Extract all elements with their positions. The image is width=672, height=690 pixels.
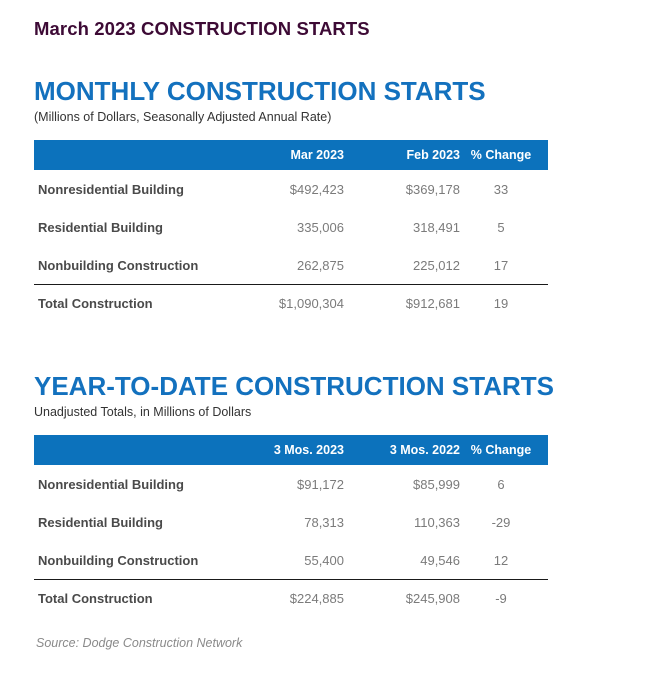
table-header-row: Mar 2023 Feb 2023 % Change <box>34 140 548 170</box>
cell-change: 33 <box>464 170 548 208</box>
table-row: Residential Building 78,313 110,363 -29 <box>34 503 548 541</box>
cell-current: 262,875 <box>236 246 348 285</box>
report-title: March 2023 CONSTRUCTION STARTS <box>34 18 370 40</box>
cell-previous: 49,546 <box>348 541 464 580</box>
column-header-previous: Feb 2023 <box>348 140 464 170</box>
total-current: $1,090,304 <box>236 285 348 322</box>
table-row: Nonresidential Building $91,172 $85,999 … <box>34 465 548 503</box>
table-total-row: Total Construction $224,885 $245,908 -9 <box>34 580 548 617</box>
column-header-change: % Change <box>464 140 548 170</box>
cell-current: 55,400 <box>236 541 348 580</box>
total-change: -9 <box>464 580 548 617</box>
total-previous: $912,681 <box>348 285 464 322</box>
section-subtitle: Unadjusted Totals, in Millions of Dollar… <box>34 405 672 419</box>
monthly-construction-table: Mar 2023 Feb 2023 % Change Nonresidentia… <box>34 140 548 321</box>
column-header-category <box>34 435 236 465</box>
column-header-category <box>34 140 236 170</box>
total-previous: $245,908 <box>348 580 464 617</box>
section-heading: MONTHLY CONSTRUCTION STARTS <box>34 78 672 105</box>
row-label: Nonresidential Building <box>34 170 236 208</box>
cell-change: 12 <box>464 541 548 580</box>
cell-current: 78,313 <box>236 503 348 541</box>
cell-change: 5 <box>464 208 548 246</box>
column-header-current: Mar 2023 <box>236 140 348 170</box>
row-label: Nonbuilding Construction <box>34 541 236 580</box>
cell-previous: $85,999 <box>348 465 464 503</box>
row-label: Nonbuilding Construction <box>34 246 236 285</box>
section-monthly-construction-starts: MONTHLY CONSTRUCTION STARTS (Millions of… <box>0 78 672 321</box>
section-heading: YEAR-TO-DATE CONSTRUCTION STARTS <box>34 373 672 400</box>
cell-change: -29 <box>464 503 548 541</box>
total-label: Total Construction <box>34 580 236 617</box>
cell-change: 17 <box>464 246 548 285</box>
section-subtitle: (Millions of Dollars, Seasonally Adjuste… <box>34 110 672 124</box>
table-header-row: 3 Mos. 2023 3 Mos. 2022 % Change <box>34 435 548 465</box>
report-page: March 2023 CONSTRUCTION STARTS MONTHLY C… <box>0 0 672 690</box>
section-year-to-date-construction-starts: YEAR-TO-DATE CONSTRUCTION STARTS Unadjus… <box>0 373 672 616</box>
table-row: Residential Building 335,006 318,491 5 <box>34 208 548 246</box>
column-header-current: 3 Mos. 2023 <box>236 435 348 465</box>
total-change: 19 <box>464 285 548 322</box>
year-to-date-construction-table: 3 Mos. 2023 3 Mos. 2022 % Change Nonresi… <box>34 435 548 616</box>
cell-change: 6 <box>464 465 548 503</box>
row-label: Residential Building <box>34 208 236 246</box>
cell-previous: 318,491 <box>348 208 464 246</box>
total-label: Total Construction <box>34 285 236 322</box>
cell-previous: 110,363 <box>348 503 464 541</box>
cell-previous: $369,178 <box>348 170 464 208</box>
table-total-row: Total Construction $1,090,304 $912,681 1… <box>34 285 548 322</box>
cell-previous: 225,012 <box>348 246 464 285</box>
column-header-change: % Change <box>464 435 548 465</box>
total-current: $224,885 <box>236 580 348 617</box>
cell-current: $492,423 <box>236 170 348 208</box>
row-label: Nonresidential Building <box>34 465 236 503</box>
source-note: Source: Dodge Construction Network <box>36 636 242 650</box>
cell-current: 335,006 <box>236 208 348 246</box>
table-row: Nonbuilding Construction 262,875 225,012… <box>34 246 548 285</box>
row-label: Residential Building <box>34 503 236 541</box>
cell-current: $91,172 <box>236 465 348 503</box>
column-header-previous: 3 Mos. 2022 <box>348 435 464 465</box>
table-row: Nonbuilding Construction 55,400 49,546 1… <box>34 541 548 580</box>
table-row: Nonresidential Building $492,423 $369,17… <box>34 170 548 208</box>
